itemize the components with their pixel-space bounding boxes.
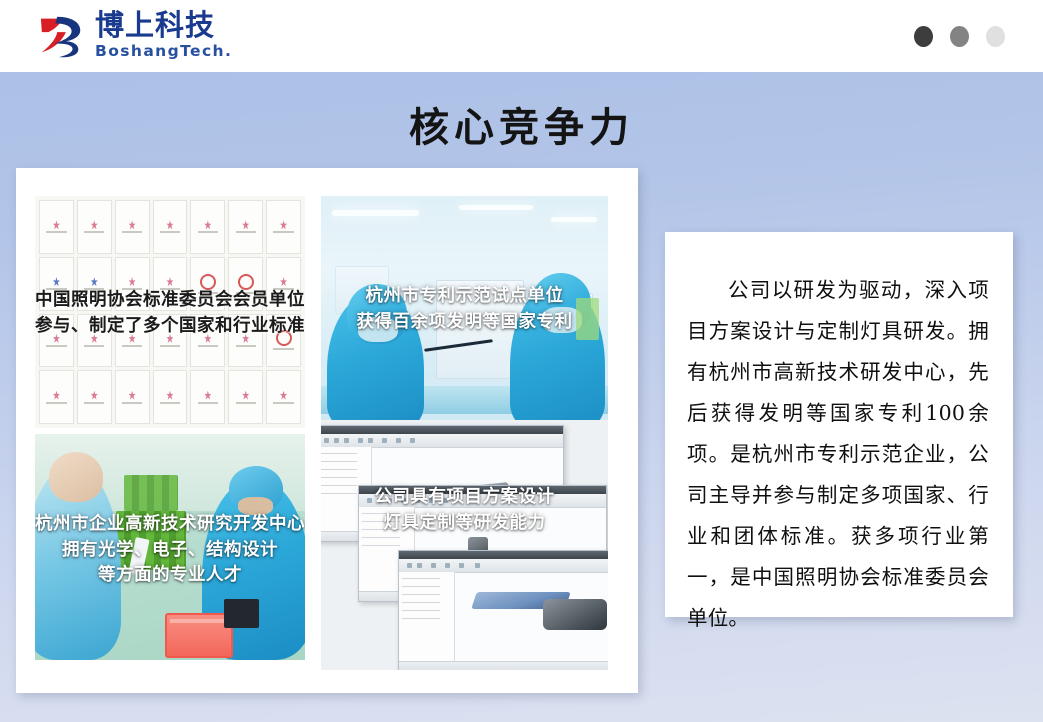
page-header: 博上科技 BoshangTech.: [0, 0, 1043, 72]
caption-line: 等方面的专业人才: [35, 563, 305, 589]
caption-line: 获得百余项发明等国家专利: [321, 310, 608, 336]
certificates-photo[interactable]: 中国照明协会标准委员会会员单位 参与、制定了多个国家和行业标准: [35, 196, 305, 428]
pager-dot-2[interactable]: [950, 26, 969, 47]
rd-center-photo-caption: 杭州市企业高新技术研究开发中心 拥有光学、电子、结构设计 等方面的专业人才: [35, 512, 305, 589]
pager-dots: [914, 26, 1005, 47]
boshang-logo-mark-icon: [38, 11, 86, 59]
gallery-card: 中国照明协会标准委员会会员单位 参与、制定了多个国家和行业标准: [16, 168, 638, 693]
description-panel: 公司以研发为驱动，深入项目方案设计与定制灯具研发。拥有杭州市高新技术研发中心，先…: [665, 232, 1013, 617]
caption-line: 拥有光学、电子、结构设计: [35, 538, 305, 564]
brand-name-cn: 博上科技: [95, 11, 232, 40]
pager-dot-3[interactable]: [986, 26, 1005, 47]
slide-canvas: 博上科技 BoshangTech. 核心竞争力: [0, 0, 1043, 722]
caption-line: 杭州市企业高新技术研究开发中心: [35, 512, 305, 538]
brand-logo-text: 博上科技 BoshangTech.: [95, 11, 232, 60]
cad-design-photo[interactable]: 公司具有项目方案设计 灯具定制等研发能力: [321, 420, 608, 670]
caption-line: 灯具定制等研发能力: [321, 511, 608, 537]
cad-design-photo-caption: 公司具有项目方案设计 灯具定制等研发能力: [321, 485, 608, 536]
brand-name-en: BoshangTech.: [95, 44, 232, 60]
caption-line: 参与、制定了多个国家和行业标准: [35, 314, 305, 340]
rd-center-photo[interactable]: 杭州市企业高新技术研究开发中心 拥有光学、电子、结构设计 等方面的专业人才: [35, 434, 305, 660]
caption-line: 中国照明协会标准委员会会员单位: [35, 288, 305, 314]
certificates-photo-caption: 中国照明协会标准委员会会员单位 参与、制定了多个国家和行业标准: [35, 288, 305, 339]
description-text: 公司以研发为驱动，深入项目方案设计与定制灯具研发。拥有杭州市高新技术研发中心，先…: [687, 270, 989, 639]
brand-logo[interactable]: 博上科技 BoshangTech.: [38, 11, 232, 60]
cad-design-photo-art: [321, 420, 608, 670]
caption-line: 公司具有项目方案设计: [321, 485, 608, 511]
cleanroom-lab-photo[interactable]: 杭州市专利示范试点单位 获得百余项发明等国家专利: [321, 196, 608, 428]
pager-dot-1[interactable]: [914, 26, 933, 47]
page-title: 核心竞争力: [0, 95, 1043, 153]
cleanroom-lab-photo-caption: 杭州市专利示范试点单位 获得百余项发明等国家专利: [321, 284, 608, 335]
caption-line: 杭州市专利示范试点单位: [321, 284, 608, 310]
